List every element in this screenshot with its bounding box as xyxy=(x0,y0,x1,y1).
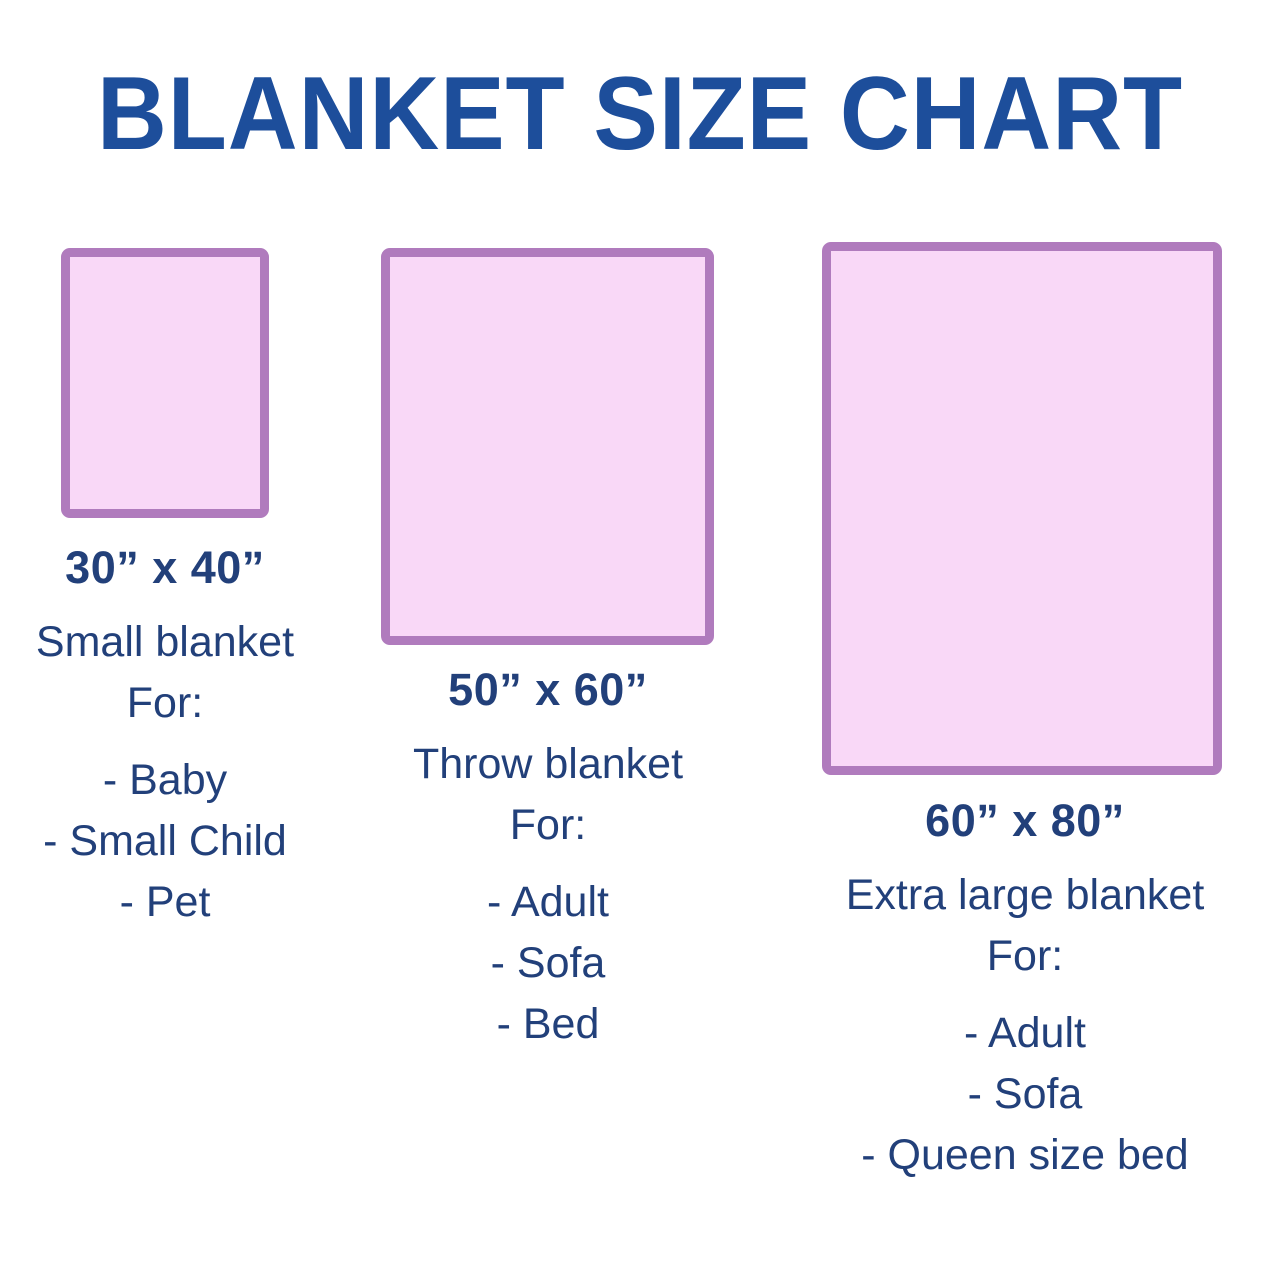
blanket-name-small: Small blanket xyxy=(0,612,330,673)
use-item: - Small Child xyxy=(0,811,330,872)
blanket-swatch-extra-large xyxy=(822,242,1222,775)
use-item: - Baby xyxy=(0,750,330,811)
use-item: - Sofa xyxy=(790,1064,1260,1125)
dimension-label-small: 30” x 40” xyxy=(0,540,330,596)
blanket-swatch-throw xyxy=(381,248,714,645)
size-info-throw: 50” x 60” Throw blanket For: - Adult - S… xyxy=(368,662,728,1055)
for-label-throw: For: xyxy=(368,795,728,856)
spacer xyxy=(790,849,1260,865)
spacer xyxy=(368,856,728,872)
spacer xyxy=(0,596,330,612)
use-item: - Sofa xyxy=(368,933,728,994)
use-item: - Bed xyxy=(368,994,728,1055)
blanket-swatch-small xyxy=(61,248,269,518)
spacer xyxy=(790,987,1260,1003)
dimension-label-extra-large: 60” x 80” xyxy=(790,793,1260,849)
blanket-name-throw: Throw blanket xyxy=(368,734,728,795)
for-label-small: For: xyxy=(0,673,330,734)
spacer xyxy=(368,718,728,734)
blanket-name-extra-large: Extra large blanket xyxy=(790,865,1260,926)
dimension-label-throw: 50” x 60” xyxy=(368,662,728,718)
use-item: - Pet xyxy=(0,872,330,933)
for-label-extra-large: For: xyxy=(790,926,1260,987)
use-item: - Queen size bed xyxy=(790,1125,1260,1186)
use-item: - Adult xyxy=(790,1003,1260,1064)
page-title: BLANKET SIZE CHART xyxy=(45,62,1235,166)
blanket-size-chart-canvas: BLANKET SIZE CHART 30” x 40” Small blank… xyxy=(0,0,1280,1280)
size-info-small: 30” x 40” Small blanket For: - Baby - Sm… xyxy=(0,540,330,933)
spacer xyxy=(0,734,330,750)
use-item: - Adult xyxy=(368,872,728,933)
size-info-extra-large: 60” x 80” Extra large blanket For: - Adu… xyxy=(790,793,1260,1186)
